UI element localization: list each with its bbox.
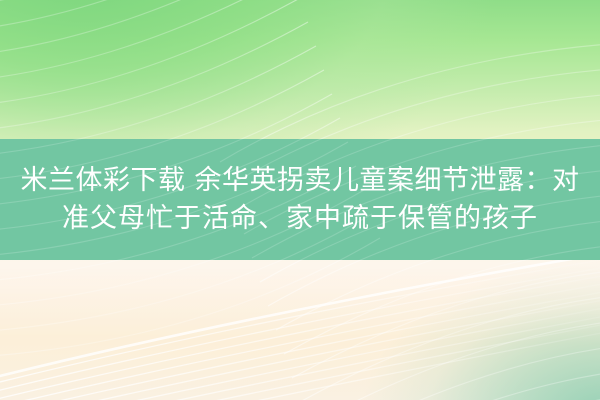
headline-line-1: 米兰体彩下载 余华英拐卖儿童案细节泄露：对: [10, 162, 590, 200]
promo-banner: 米兰体彩下载 余华英拐卖儿童案细节泄露：对 准父母忙于活命、家中疏于保管的孩子: [0, 0, 600, 400]
headline-line-2: 准父母忙于活命、家中疏于保管的孩子: [10, 200, 590, 238]
headline-band: 米兰体彩下载 余华英拐卖儿童案细节泄露：对 准父母忙于活命、家中疏于保管的孩子: [0, 139, 600, 260]
